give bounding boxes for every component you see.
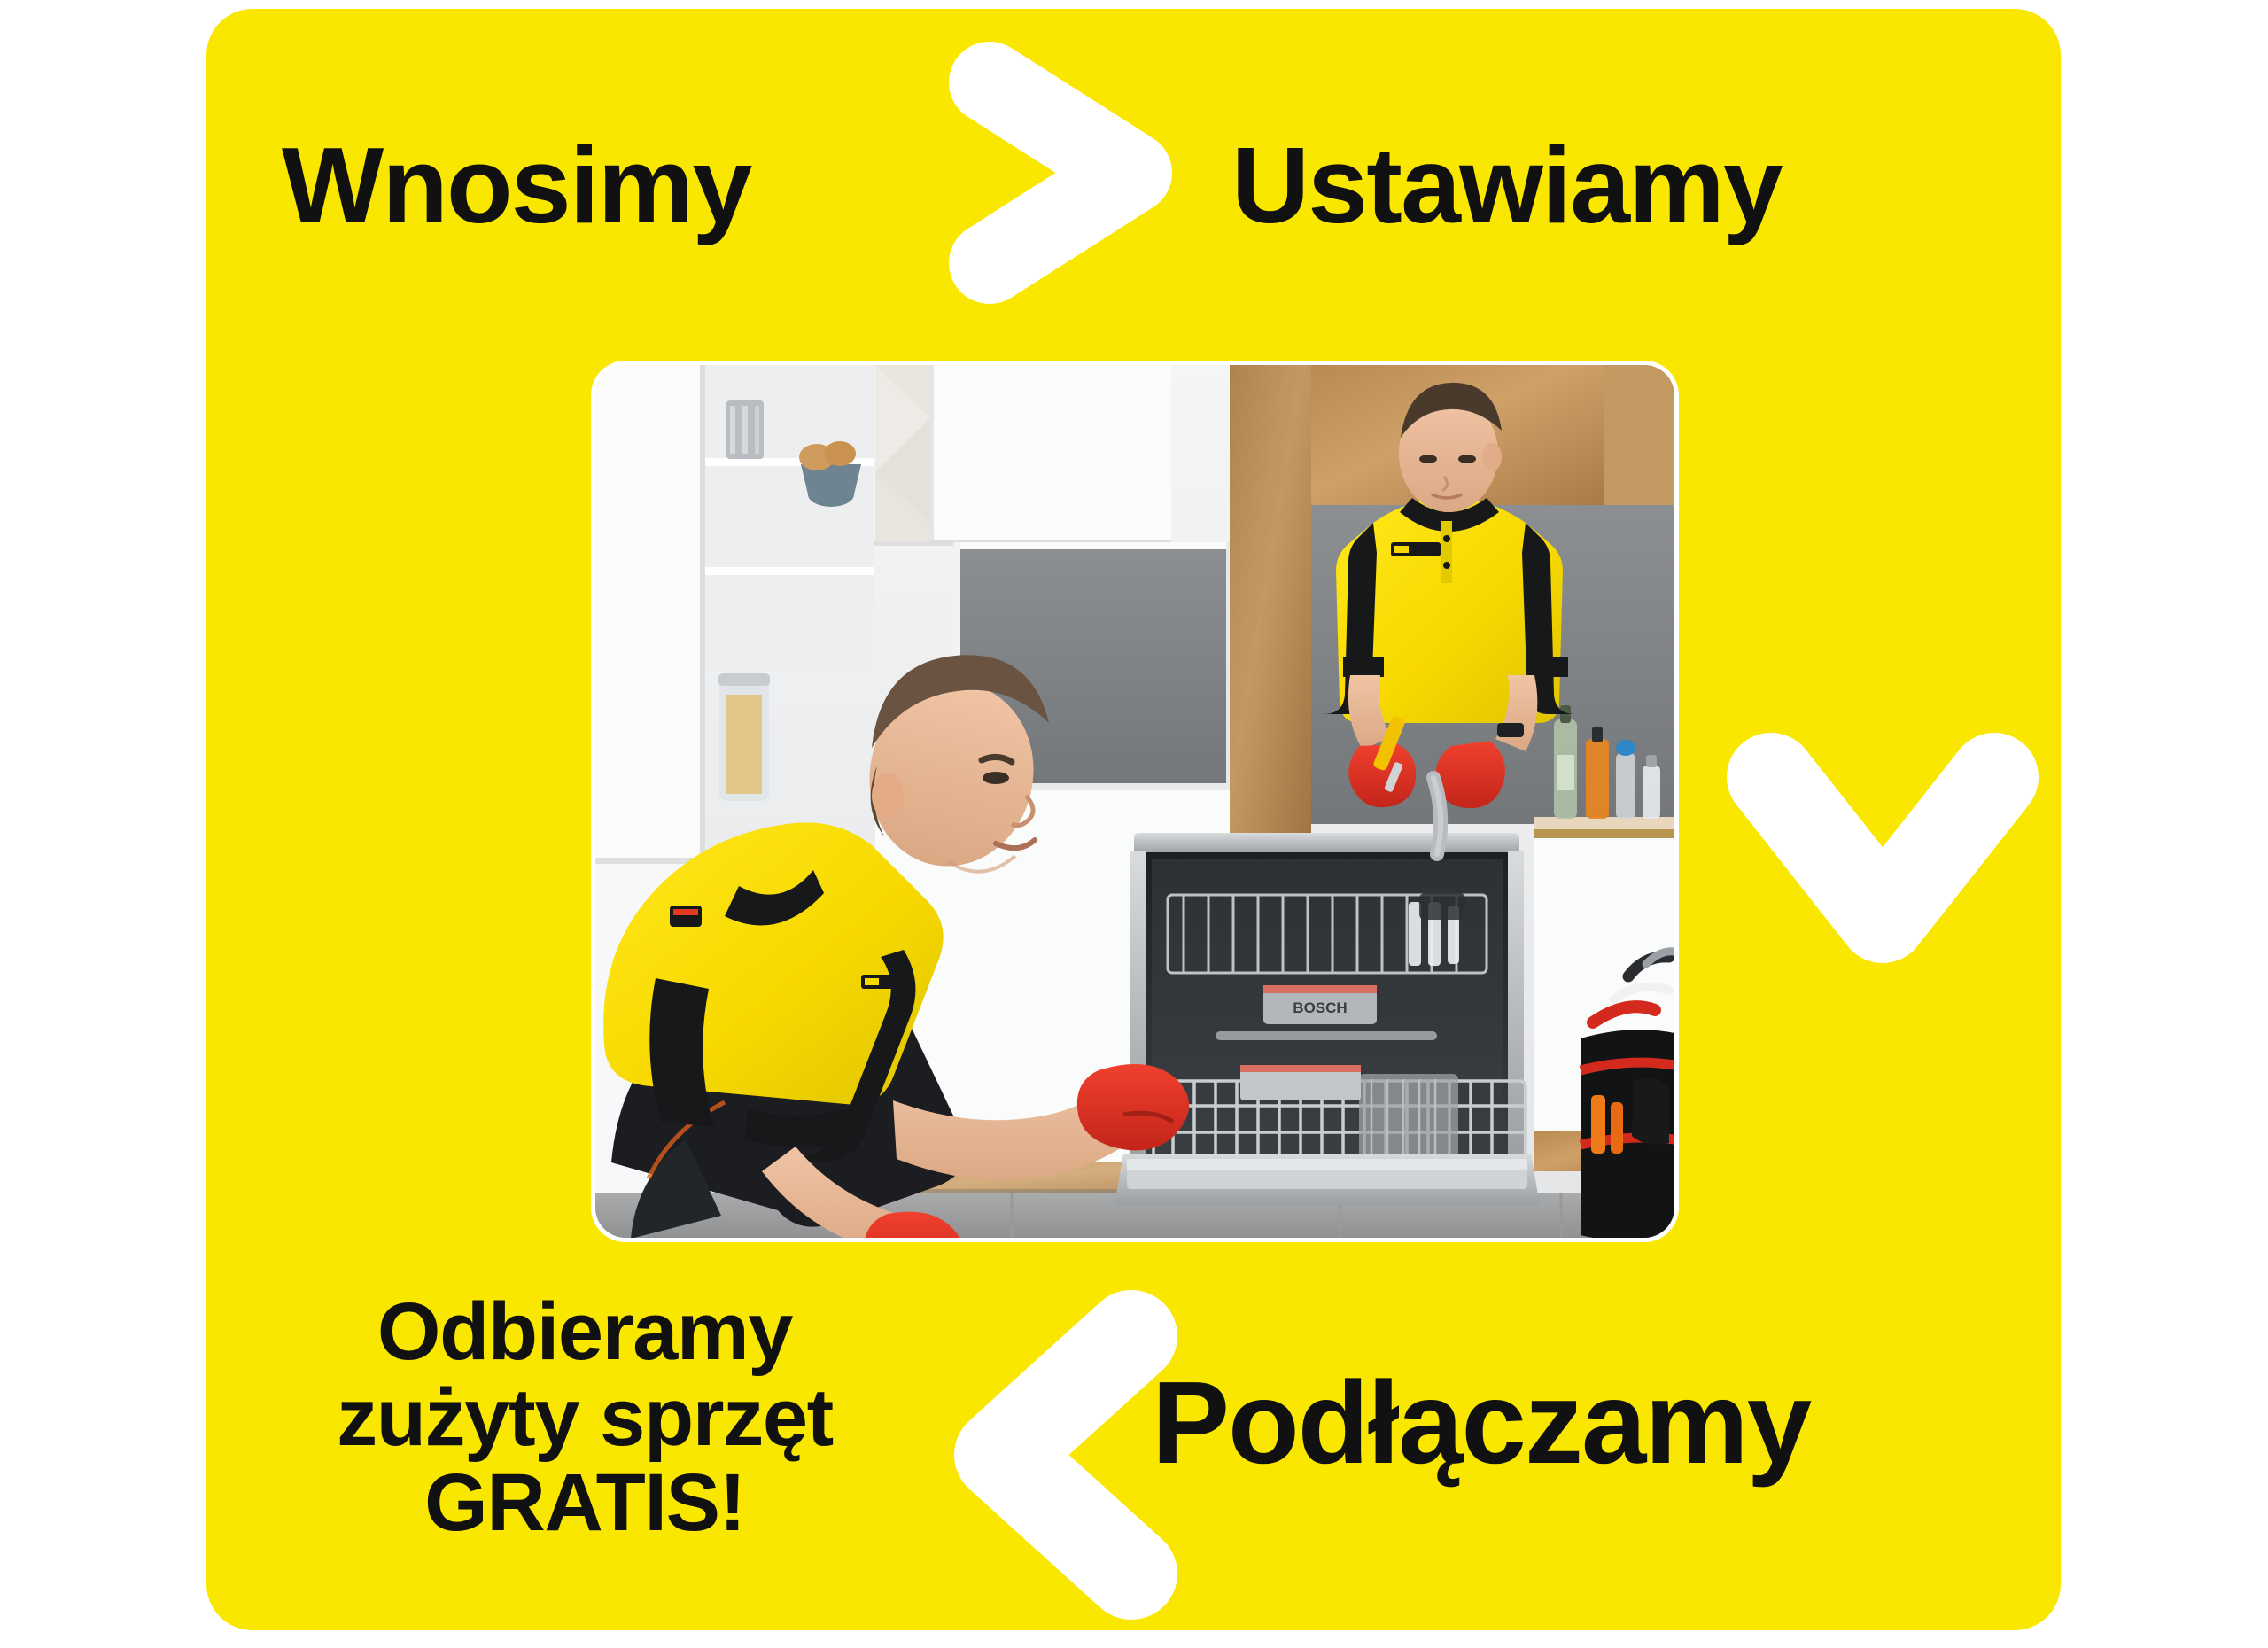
chevron-right-icon	[944, 40, 1178, 306]
chevron-down-icon	[1723, 731, 2042, 983]
step-label-wnosimy: Wnosimy	[282, 131, 750, 239]
promo-banner: Wnosimy Ustawiamy	[0, 0, 2268, 1648]
step-label-ustawiamy: Ustawiamy	[1231, 131, 1782, 239]
step-label-odbieramy-line2: zużyty sprzęt	[266, 1375, 904, 1461]
step-label-odbieramy-block: Odbieramy zużyty sprzęt GRATIS!	[266, 1289, 904, 1546]
chevron-left-icon	[908, 1287, 1192, 1623]
installation-photo: BOSCH	[595, 365, 1674, 1238]
svg-text:BOSCH: BOSCH	[1293, 999, 1347, 1016]
step-label-podlaczamy: Podłączamy	[1152, 1364, 1810, 1481]
step-label-odbieramy-line1: Odbieramy	[266, 1289, 904, 1375]
step-label-gratis: GRATIS!	[266, 1460, 904, 1546]
